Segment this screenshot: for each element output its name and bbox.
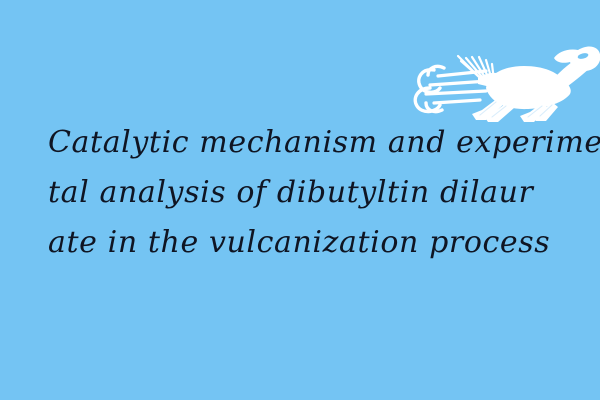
fan-tail-fill [478,73,512,92]
neck [556,54,594,86]
leg-detail-lines [480,102,552,117]
body-group [486,47,600,110]
front-left-leg [472,98,504,120]
fan-tail-group [458,56,495,89]
title-line-3: ate in the vulcanization process [48,218,596,268]
head-muzzle [554,47,600,72]
article-title-banner: Catalytic mechanism and experimen tal an… [0,0,600,400]
title-line-2: tal analysis of dibutyltin dilaur [48,168,596,218]
page-title: Catalytic mechanism and experimen tal an… [48,118,596,268]
body [486,66,571,109]
swirl-puff-lower [415,88,440,112]
swirl-puff-tail-lower [426,103,442,112]
swirl-puff-upper [419,70,440,93]
speed-lines-group [426,71,488,103]
swirl-puff-tail-upper [428,66,444,75]
swirl-puff-group [415,66,444,111]
running-horse-icon [400,28,600,123]
eye [577,52,589,60]
title-line-1: Catalytic mechanism and experimen [48,118,596,168]
